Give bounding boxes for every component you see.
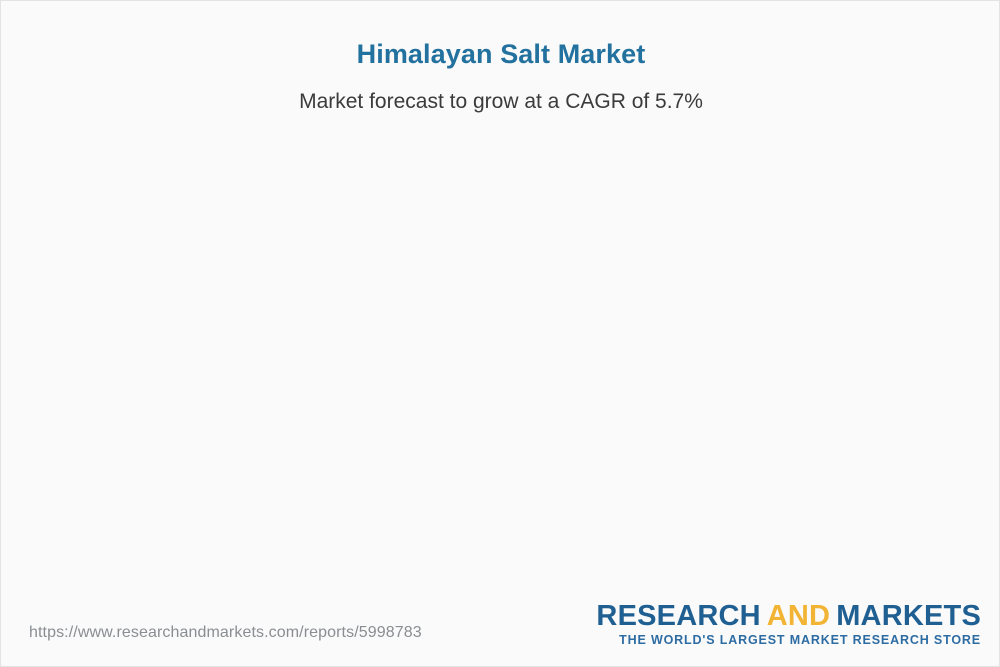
logo-word-and: AND: [767, 600, 830, 632]
logo-wordmark: RESEARCHANDMARKETS: [596, 601, 981, 631]
logo-word-markets: MARKETS: [836, 600, 981, 632]
research-and-markets-logo[interactable]: RESEARCHANDMARKETS THE WORLD'S LARGEST M…: [596, 601, 981, 647]
logo-tagline: THE WORLD'S LARGEST MARKET RESEARCH STOR…: [596, 633, 981, 647]
logo-word-research: RESEARCH: [596, 600, 760, 632]
chart-plot-area: USD 470.2 Million 2023 USD 691.7 Million: [1, 1, 1000, 601]
infographic-canvas: Himalayan Salt Market Market forecast to…: [0, 0, 1000, 667]
source-url[interactable]: https://www.researchandmarkets.com/repor…: [29, 624, 422, 642]
